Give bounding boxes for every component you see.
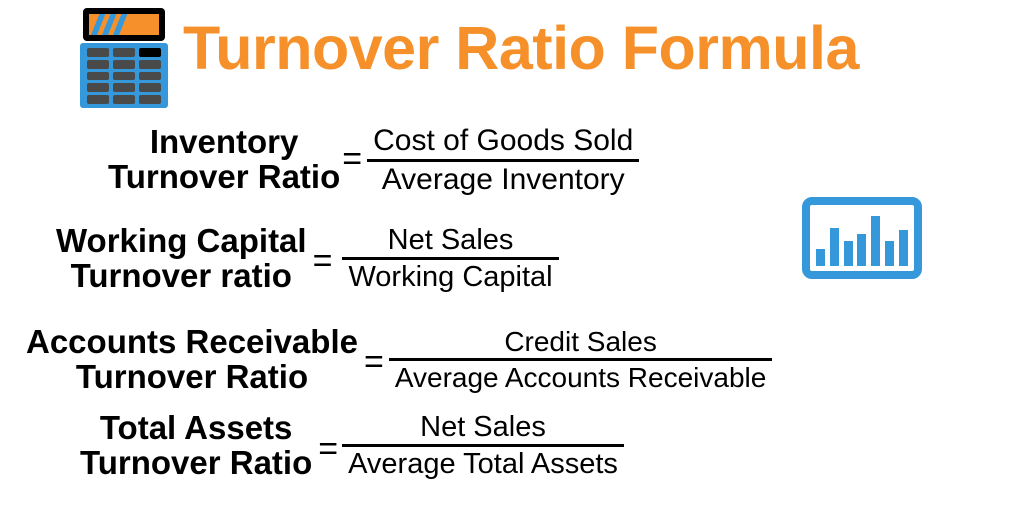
- fraction-denominator: Average Total Assets: [342, 444, 624, 480]
- formula-label-line1: Inventory: [108, 125, 340, 160]
- formula-total-assets-turnover-ratio: Total Assets Turnover Ratio = Net Sales …: [80, 411, 624, 481]
- calculator-key: [87, 60, 109, 69]
- calculator-key: [139, 60, 161, 69]
- fraction-denominator: Working Capital: [342, 257, 558, 293]
- bar-chart-bar: [857, 234, 866, 266]
- bar-chart-bars: [816, 216, 908, 266]
- calculator-key: [139, 83, 161, 92]
- calculator-key: [139, 72, 161, 81]
- calculator-key-accent: [139, 48, 161, 57]
- calculator-key: [87, 95, 109, 104]
- equals-sign: =: [313, 236, 333, 281]
- page-title: Turnover Ratio Formula: [183, 18, 859, 79]
- bar-chart-bar: [844, 241, 853, 266]
- calculator-key: [87, 72, 109, 81]
- fraction: Net Sales Average Total Assets: [342, 411, 624, 481]
- calculator-screen-frame: [83, 8, 165, 41]
- formula-label-line2: Turnover Ratio: [26, 360, 358, 395]
- formula-label-line1: Working Capital: [56, 224, 307, 259]
- formula-label: Accounts Receivable Turnover Ratio: [26, 325, 358, 395]
- fraction-numerator: Credit Sales: [389, 326, 773, 358]
- bar-chart-bar: [899, 230, 908, 266]
- fraction: Credit Sales Average Accounts Receivable: [389, 326, 773, 394]
- calculator-key: [139, 95, 161, 104]
- formula-accounts-receivable-turnover-ratio: Accounts Receivable Turnover Ratio = Cre…: [26, 325, 772, 395]
- calculator-icon: [80, 8, 168, 108]
- bar-chart-bar: [885, 241, 894, 266]
- formula-label-line1: Accounts Receivable: [26, 325, 358, 360]
- formula-label-line2: Turnover Ratio: [108, 160, 340, 195]
- formula-label-line1: Total Assets: [80, 411, 312, 446]
- fraction-denominator: Average Accounts Receivable: [389, 358, 773, 393]
- formula-inventory-turnover-ratio: Inventory Turnover Ratio = Cost of Goods…: [108, 124, 639, 196]
- fraction: Cost of Goods Sold Average Inventory: [367, 124, 639, 196]
- bar-chart-bar: [871, 216, 880, 266]
- equals-sign: =: [318, 422, 338, 469]
- bar-chart-icon: [802, 197, 922, 279]
- calculator-screen: [89, 14, 159, 35]
- equals-sign: =: [364, 337, 384, 382]
- calculator-key: [87, 48, 109, 57]
- formula-label: Working Capital Turnover ratio: [56, 224, 307, 294]
- calculator-key: [113, 95, 135, 104]
- fraction: Net Sales Working Capital: [342, 224, 558, 294]
- calculator-key: [113, 83, 135, 92]
- calculator-key: [87, 83, 109, 92]
- page-header: Turnover Ratio Formula: [0, 0, 1024, 112]
- calculator-key: [113, 60, 135, 69]
- calculator-key: [113, 48, 135, 57]
- formula-working-capital-turnover-ratio: Working Capital Turnover ratio = Net Sal…: [56, 224, 559, 294]
- calculator-key: [113, 72, 135, 81]
- bar-chart-bar: [816, 249, 825, 266]
- formula-label: Total Assets Turnover Ratio: [80, 411, 312, 481]
- bar-chart-bar: [830, 228, 839, 266]
- calculator-body: [80, 43, 168, 108]
- fraction-numerator: Net Sales: [342, 224, 558, 257]
- calculator-keypad: [87, 48, 161, 104]
- fraction-denominator: Average Inventory: [367, 159, 639, 197]
- formula-label: Inventory Turnover Ratio: [108, 125, 340, 195]
- fraction-numerator: Cost of Goods Sold: [367, 124, 639, 159]
- equals-sign: =: [342, 124, 362, 179]
- turnover-ratio-formula-page: Turnover Ratio Formula Inventory Turnove…: [0, 0, 1024, 526]
- fraction-numerator: Net Sales: [342, 411, 624, 444]
- formula-label-line2: Turnover Ratio: [80, 446, 312, 481]
- formula-label-line2: Turnover ratio: [56, 259, 307, 294]
